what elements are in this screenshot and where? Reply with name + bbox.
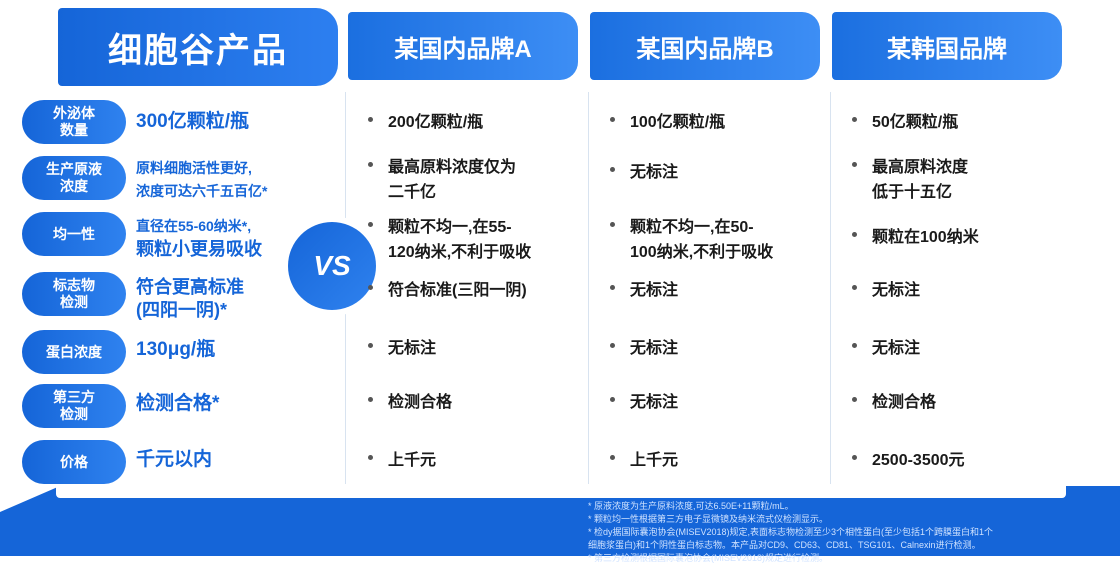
- column-separator-3: [830, 92, 831, 484]
- brand-c-cell-price: 2500-3500元: [872, 448, 1062, 473]
- brand-b-cell-price: 上千元: [630, 448, 822, 473]
- own-uniformity-line1: 直径在55-60纳米*,: [136, 215, 316, 238]
- column-separator-2: [588, 92, 589, 484]
- bullet-icon: [368, 285, 373, 290]
- brand-b-exosome-count-value: 100亿颗粒/瓶: [630, 114, 725, 131]
- row-label-uniformity-text: 均一性: [53, 226, 95, 243]
- bullet-icon: [610, 222, 615, 227]
- brand-c-cell-stock-concentration: 最高原料浓度 低于十五亿: [872, 155, 1062, 205]
- brand-a-exosome-count-value: 200亿颗粒/瓶: [388, 114, 483, 131]
- brand-a-price-value: 上千元: [388, 452, 436, 469]
- brand-b-price-value: 上千元: [630, 452, 678, 469]
- bullet-icon: [610, 285, 615, 290]
- brand-b-cell-uniformity: 颗粒不均一,在50- 100纳米,不利于吸收: [630, 215, 822, 265]
- bullet-icon: [852, 117, 857, 122]
- brand-b-uniformity-line2: 100纳米,不利于吸收: [630, 240, 822, 265]
- own-uniformity-line2: 颗粒小更易吸收: [136, 238, 316, 261]
- bullet-icon: [852, 343, 857, 348]
- brand-c-price-value: 2500-3500元: [872, 452, 965, 469]
- footnote-3: * 检dy据国际囊泡协会(MISEV2018)规定,表面标志物检测至少3个相性蛋…: [588, 526, 1088, 539]
- brand-a-cell-price: 上千元: [388, 448, 573, 473]
- brand-a-uniformity-line1: 颗粒不均一,在55-: [388, 215, 573, 240]
- row-label-stock-concentration-text: 生产原液 浓度: [46, 161, 102, 195]
- brand-c-third-party-value: 检测合格: [872, 394, 936, 411]
- brand-b-uniformity-line1: 颗粒不均一,在50-: [630, 215, 822, 240]
- own-price-value: 千元以内: [136, 449, 212, 470]
- footnote-4: 细胞浆蛋白)和1个阴性蛋白标志物。本产品对CD9、CD63、CD81、TSG10…: [588, 539, 1088, 552]
- brand-b-cell-third-party: 无标注: [630, 390, 822, 415]
- row-label-uniformity: 均一性: [22, 212, 126, 256]
- own-stock-line1: 原料细胞活性更好,: [136, 157, 316, 180]
- own-cell-stock-concentration: 原料细胞活性更好, 浓度可达六千五百亿*: [136, 157, 316, 203]
- row-label-exosome-count: 外泌体 数量: [22, 100, 126, 144]
- row-label-third-party-text: 第三方 检测: [53, 389, 95, 423]
- vs-badge-label: VS: [313, 250, 350, 282]
- brand-b-cell-stock-concentration: 无标注: [630, 160, 822, 185]
- bullet-icon: [610, 397, 615, 402]
- brand-a-cell-third-party: 检测合格: [388, 390, 573, 415]
- brand-c-protein-value: 无标注: [872, 340, 920, 357]
- brand-a-cell-exosome-count: 200亿颗粒/瓶: [388, 110, 573, 135]
- bullet-icon: [610, 455, 615, 460]
- brand-a-cell-stock-concentration: 最高原料浓度仅为 二千亿: [388, 155, 573, 205]
- brand-c-exosome-count-value: 50亿颗粒/瓶: [872, 114, 958, 131]
- brand-c-cell-third-party: 检测合格: [872, 390, 1062, 415]
- header-brand-a-label: 某国内品牌A: [394, 29, 531, 64]
- brand-a-cell-protein: 无标注: [388, 336, 573, 361]
- row-label-marker-detection: 标志物 检测: [22, 272, 126, 316]
- row-label-third-party: 第三方 检测: [22, 384, 126, 428]
- bullet-icon: [610, 117, 615, 122]
- brand-c-cell-exosome-count: 50亿颗粒/瓶: [872, 110, 1062, 135]
- row-label-marker-detection-text: 标志物 检测: [53, 277, 95, 311]
- own-protein-value: 130μg/瓶: [136, 339, 215, 360]
- brand-b-cell-protein: 无标注: [630, 336, 822, 361]
- footnotes: * 原液浓度为生产原料浓度,可达6.50E+11颗粒/mL。 * 颗粒均一性根据…: [588, 500, 1088, 565]
- bullet-icon: [610, 343, 615, 348]
- bullet-icon: [368, 162, 373, 167]
- brand-c-cell-marker: 无标注: [872, 278, 1062, 303]
- brand-c-cell-uniformity: 颗粒在100纳米: [872, 225, 1062, 250]
- brand-a-stock-line1: 最高原料浓度仅为: [388, 155, 573, 180]
- brand-a-cell-marker: 符合标准(三阳一阴): [388, 278, 573, 303]
- brand-b-cell-marker: 无标注: [630, 278, 822, 303]
- brand-b-stock-value: 无标注: [630, 164, 678, 181]
- brand-a-third-party-value: 检测合格: [388, 394, 452, 411]
- bullet-icon: [852, 397, 857, 402]
- row-label-protein-concentration: 蛋白浓度: [22, 330, 126, 374]
- row-label-exosome-count-text: 外泌体 数量: [53, 105, 95, 139]
- bullet-icon: [368, 117, 373, 122]
- own-cell-exosome-count: 300亿颗粒/瓶: [136, 110, 316, 133]
- header-brand-a: 某国内品牌A: [348, 12, 578, 80]
- brand-b-protein-value: 无标注: [630, 340, 678, 357]
- brand-b-marker-value: 无标注: [630, 282, 678, 299]
- header-brand-c-label: 某韩国品牌: [887, 29, 1007, 64]
- bullet-icon: [368, 397, 373, 402]
- brand-c-stock-line2: 低于十五亿: [872, 180, 1062, 205]
- header-brand-b-label: 某国内品牌B: [636, 29, 773, 64]
- bullet-icon: [852, 455, 857, 460]
- own-marker-line2: (四阳一阴)*: [136, 299, 316, 322]
- bullet-icon: [368, 343, 373, 348]
- own-stock-line2: 浓度可达六千五百亿*: [136, 180, 316, 203]
- footnote-5: * 第三方检测根据国际囊泡协会(MISEV2018)规定进行检测。: [588, 552, 1088, 565]
- row-label-stock-concentration: 生产原液 浓度: [22, 156, 126, 200]
- footnote-2: * 颗粒均一性根据第三方电子显微镜及纳米流式仪检测显示。: [588, 513, 1088, 526]
- bullet-icon: [852, 285, 857, 290]
- row-label-protein-concentration-text: 蛋白浓度: [46, 344, 102, 361]
- bullet-icon: [852, 162, 857, 167]
- header-own-product: 细胞谷产品: [58, 8, 338, 86]
- own-cell-marker: 符合更高标准 (四阳一阴)*: [136, 276, 316, 322]
- row-label-price: 价格: [22, 440, 126, 484]
- footnote-1: * 原液浓度为生产原料浓度,可达6.50E+11颗粒/mL。: [588, 500, 1088, 513]
- bullet-icon: [610, 167, 615, 172]
- own-cell-third-party: 检测合格*: [136, 392, 316, 415]
- brand-a-stock-line2: 二千亿: [388, 180, 573, 205]
- brand-a-marker-value: 符合标准(三阳一阴): [388, 282, 527, 299]
- header-own-product-label: 细胞谷产品: [108, 23, 288, 72]
- own-cell-protein: 130μg/瓶: [136, 338, 316, 361]
- own-cell-uniformity: 直径在55-60纳米*, 颗粒小更易吸收: [136, 215, 316, 261]
- brand-c-uniformity-value: 颗粒在100纳米: [872, 229, 979, 246]
- own-cell-price: 千元以内: [136, 448, 316, 471]
- header-brand-b: 某国内品牌B: [590, 12, 820, 80]
- own-exosome-count-value: 300亿颗粒/瓶: [136, 111, 249, 132]
- brand-a-protein-value: 无标注: [388, 340, 436, 357]
- brand-c-stock-line1: 最高原料浓度: [872, 155, 1062, 180]
- brand-a-uniformity-line2: 120纳米,不利于吸收: [388, 240, 573, 265]
- brand-c-marker-value: 无标注: [872, 282, 920, 299]
- row-label-price-text: 价格: [60, 454, 88, 471]
- bullet-icon: [368, 222, 373, 227]
- brand-b-third-party-value: 无标注: [630, 394, 678, 411]
- header-brand-c: 某韩国品牌: [832, 12, 1062, 80]
- bullet-icon: [852, 232, 857, 237]
- own-third-party-value: 检测合格*: [136, 393, 219, 414]
- brand-c-cell-protein: 无标注: [872, 336, 1062, 361]
- brand-a-cell-uniformity: 颗粒不均一,在55- 120纳米,不利于吸收: [388, 215, 573, 265]
- brand-b-cell-exosome-count: 100亿颗粒/瓶: [630, 110, 822, 135]
- bullet-icon: [368, 455, 373, 460]
- own-marker-line1: 符合更高标准: [136, 276, 316, 299]
